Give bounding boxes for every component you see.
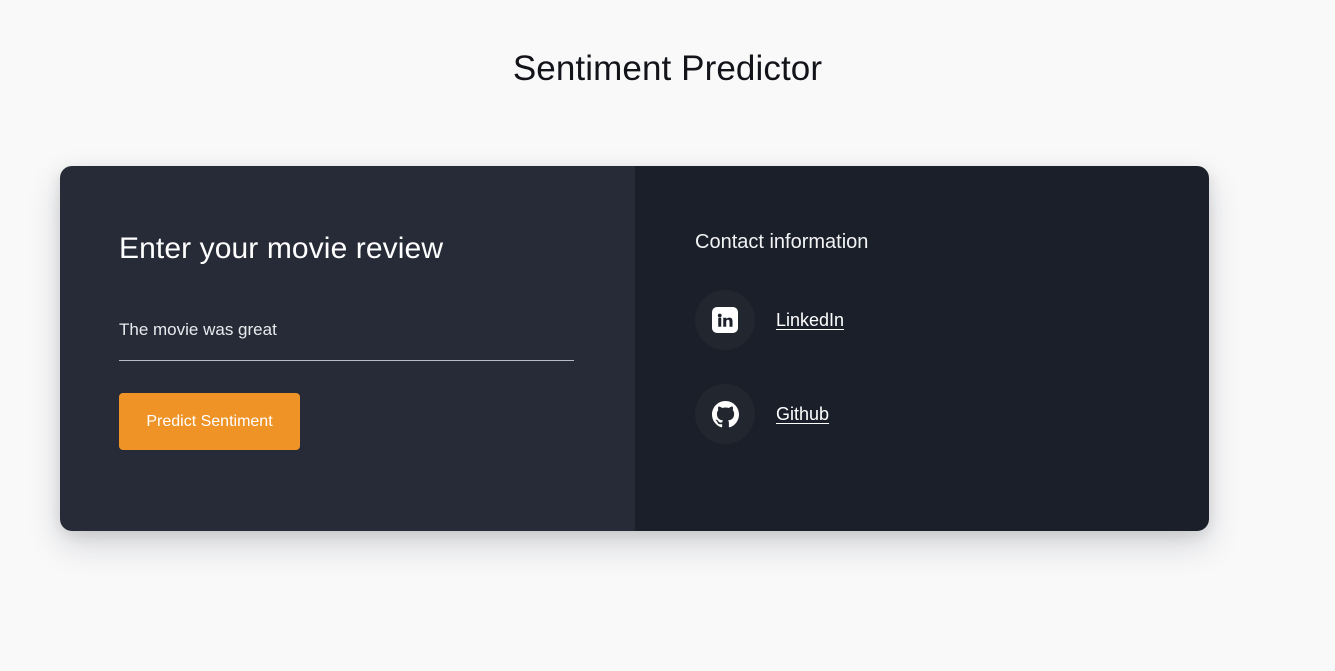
app-page: Sentiment Predictor Enter your movie rev… <box>0 0 1335 671</box>
github-icon-circle <box>695 384 755 444</box>
review-input-wrapper <box>119 318 574 361</box>
contact-item-github[interactable]: Github <box>695 384 1125 444</box>
review-input[interactable] <box>119 318 574 361</box>
contact-item-linkedin[interactable]: LinkedIn <box>695 290 1125 350</box>
page-title: Sentiment Predictor <box>0 45 1335 93</box>
linkedin-icon-circle <box>695 290 755 350</box>
main-card: Enter your movie review Predict Sentimen… <box>60 166 1209 531</box>
github-icon <box>712 401 739 428</box>
contact-list: LinkedIn Github <box>695 290 1125 444</box>
github-link[interactable]: Github <box>776 402 829 426</box>
linkedin-icon <box>712 307 738 333</box>
contact-panel: Contact information LinkedIn <box>635 166 1209 531</box>
review-form-panel: Enter your movie review Predict Sentimen… <box>60 166 635 531</box>
predict-sentiment-button[interactable]: Predict Sentiment <box>119 393 300 450</box>
linkedin-link[interactable]: LinkedIn <box>776 308 844 332</box>
contact-heading: Contact information <box>695 228 868 256</box>
form-heading: Enter your movie review <box>119 231 443 267</box>
